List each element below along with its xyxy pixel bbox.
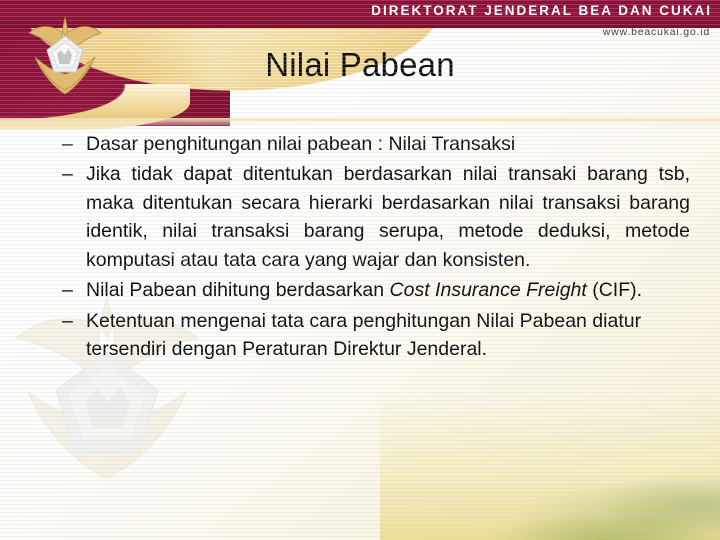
bullet-item: –Jika tidak dapat ditentukan berdasarkan… bbox=[62, 160, 690, 274]
banner-bottom-edge bbox=[0, 118, 720, 127]
bullet-text: Ketentuan mengenai tata cara penghitunga… bbox=[86, 307, 690, 364]
bullet-item: –Ketentuan mengenai tata cara penghitung… bbox=[62, 307, 690, 364]
landscape-background-decoration bbox=[380, 390, 720, 540]
plain-text: Nilai Pabean dihitung berdasarkan bbox=[86, 279, 390, 301]
slide-body: –Dasar penghitungan nilai pabean : Nilai… bbox=[62, 130, 690, 366]
bullet-item: –Dasar penghitungan nilai pabean : Nilai… bbox=[62, 130, 690, 158]
plain-text: (CIF). bbox=[587, 279, 642, 301]
plain-text: Ketentuan mengenai tata cara penghitunga… bbox=[86, 310, 641, 360]
bullet-dash-icon: – bbox=[62, 160, 86, 274]
website-url: www.beacukai.go.id bbox=[603, 26, 710, 38]
bullet-text: Nilai Pabean dihitung berdasarkan Cost I… bbox=[86, 276, 690, 304]
presentation-slide: DIREKTORAT JENDERAL BEA DAN CUKAI www.be… bbox=[0, 0, 720, 540]
bullet-item: –Nilai Pabean dihitung berdasarkan Cost … bbox=[62, 276, 690, 304]
bullet-dash-icon: – bbox=[62, 130, 86, 158]
slide-title: Nilai Pabean bbox=[0, 46, 720, 84]
bullet-text: Jika tidak dapat ditentukan berdasarkan … bbox=[86, 160, 690, 274]
plain-text: Dasar penghitungan nilai pabean : Nilai … bbox=[86, 133, 515, 155]
emphasis-text: Cost Insurance Freight bbox=[390, 279, 587, 301]
bullet-dash-icon: – bbox=[62, 276, 86, 304]
plain-text: Jika tidak dapat ditentukan berdasarkan … bbox=[86, 163, 690, 270]
bullet-dash-icon: – bbox=[62, 307, 86, 364]
organization-name: DIREKTORAT JENDERAL BEA DAN CUKAI bbox=[371, 3, 712, 18]
bullet-text: Dasar penghitungan nilai pabean : Nilai … bbox=[86, 130, 690, 158]
